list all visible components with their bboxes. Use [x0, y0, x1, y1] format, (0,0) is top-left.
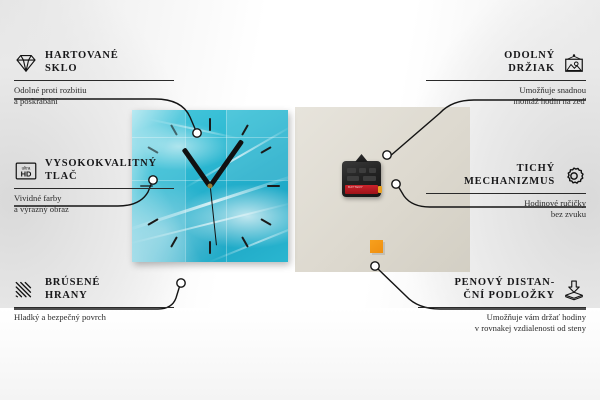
feature-penove-podlozky: PENOVÝ DISTAN- ČNÍ PODLOŽKY Umožňuje vám…	[418, 277, 586, 335]
feature-tichy-mechanizmus: TICHÝ MECHANIZMUS Hodinové ručičky bez z…	[426, 163, 586, 221]
mechanism-slot	[359, 168, 366, 173]
feature-description: Umožňuje vám držať hodiny v rovnakej vzd…	[418, 312, 586, 335]
second-hand	[209, 186, 217, 246]
feature-head: BRÚSENÉ HRANY	[14, 277, 174, 303]
feature-divider	[14, 307, 174, 308]
battery: BATTERY	[345, 185, 378, 194]
hour-tick-6	[209, 241, 211, 254]
hour-tick-8	[148, 218, 159, 226]
feature-title: HARTOVANÉ SKLO	[45, 50, 119, 76]
feature-divider	[14, 80, 174, 81]
minute-hand	[208, 139, 244, 188]
foam-spacer-pad	[370, 240, 383, 253]
feature-description: Vividné farby a výrazný obraz	[14, 193, 174, 216]
beveled-edge-icon	[14, 279, 38, 301]
clock-mechanism: BATTERY	[342, 161, 381, 197]
foam-pad-icon	[562, 279, 586, 301]
feature-divider	[426, 80, 586, 81]
battery-terminal	[378, 186, 382, 193]
hour-tick-10	[148, 146, 159, 154]
feature-brusene-hrany: BRÚSENÉ HRANY Hladký a bezpečný povrch	[14, 277, 174, 323]
hour-tick-11	[170, 124, 178, 135]
feature-title: TICHÝ MECHANIZMUS	[464, 163, 555, 189]
mechanism-slot	[347, 168, 356, 173]
battery-label: BATTERY	[348, 185, 363, 189]
hour-tick-5	[241, 236, 249, 247]
feature-divider	[418, 307, 586, 308]
ultra-hd-icon: ultra HD	[14, 160, 38, 182]
feature-head: ultra HD VYSOKOKVALITNÝ TLAČ	[14, 158, 174, 184]
feature-divider	[14, 188, 174, 189]
hour-tick-12	[209, 118, 211, 131]
hour-hand	[182, 147, 212, 188]
clock-center-hub	[208, 184, 213, 189]
hour-tick-4	[260, 218, 271, 226]
feature-odolny-drziak: ODOLNÝ DRŽIAK Umožňuje snadnou montáž ho…	[426, 50, 586, 108]
feature-head: PENOVÝ DISTAN- ČNÍ PODLOŽKY	[418, 277, 586, 303]
svg-text:HD: HD	[21, 169, 32, 178]
hour-tick-7	[170, 236, 178, 247]
feature-head: HARTOVANÉ SKLO	[14, 50, 174, 76]
feature-description: Umožňuje snadnou montáž hodin na zeď	[426, 85, 586, 108]
feature-description: Hodinové ručičky bez zvuku	[426, 198, 586, 221]
feature-title: BRÚSENÉ HRANY	[45, 277, 100, 303]
mechanism-slot	[363, 176, 376, 181]
mechanism-slot	[347, 176, 359, 181]
feature-head: ODOLNÝ DRŽIAK	[426, 50, 586, 76]
feature-title: ODOLNÝ DRŽIAK	[504, 50, 555, 76]
feature-vysokokvalitny-tlac: ultra HD VYSOKOKVALITNÝ TLAČ Vividné far…	[14, 158, 174, 216]
hour-tick-1	[241, 124, 249, 135]
mechanism-slot	[369, 168, 376, 173]
hour-tick-3	[267, 185, 280, 187]
feature-description: Hladký a bezpečný povrch	[14, 312, 174, 324]
diamond-icon	[14, 52, 38, 74]
feature-head: TICHÝ MECHANIZMUS	[426, 163, 586, 189]
feature-description: Odolné proti rozbitiu a poškrábání	[14, 85, 174, 108]
feature-divider	[426, 193, 586, 194]
feature-hartovane-sklo: HARTOVANÉ SKLO Odolné proti rozbitiu a p…	[14, 50, 174, 108]
wall-mount-picture-icon	[562, 52, 586, 74]
feature-title: PENOVÝ DISTAN- ČNÍ PODLOŽKY	[454, 277, 555, 303]
gear-icon	[562, 165, 586, 187]
hour-tick-2	[260, 146, 271, 154]
feature-title: VYSOKOKVALITNÝ TLAČ	[45, 158, 157, 184]
